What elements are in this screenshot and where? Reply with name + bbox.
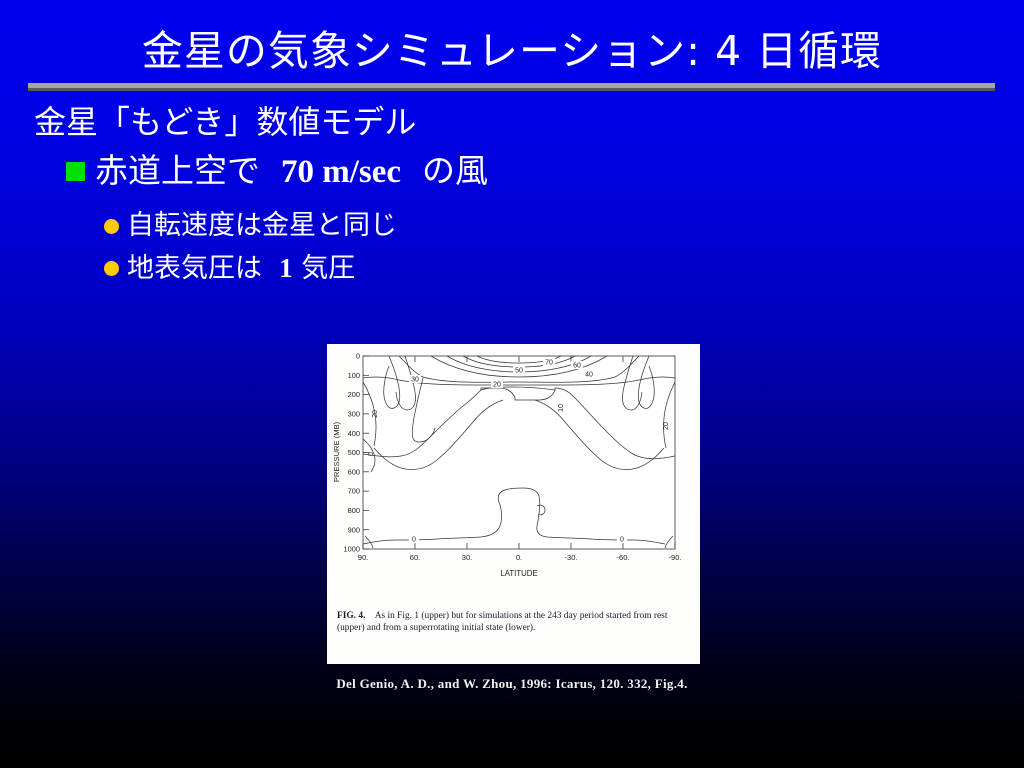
svg-text:30.: 30. <box>462 553 473 562</box>
svg-text:30: 30 <box>411 377 419 384</box>
citation-text: Del Genio, A. D., and W. Zhou, 1996: Ica… <box>0 676 1024 692</box>
green-square-bullet-icon <box>66 162 85 181</box>
figure-caption: FIG. 4. As in Fig. 1 (upper) but for sim… <box>337 610 690 634</box>
yellow-dot-bullet-icon <box>104 219 119 234</box>
subheading: 金星「もどき」数値モデル <box>34 101 416 143</box>
figure-caption-text: As in Fig. 1 (upper) but for simulations… <box>337 611 667 633</box>
svg-text:800: 800 <box>348 506 360 515</box>
svg-text:20: 20 <box>663 422 670 430</box>
bullet-wind-text-before: 赤道上空で <box>95 151 260 190</box>
svg-text:10: 10 <box>558 404 565 412</box>
bullet-wind-text-after: の風 <box>422 151 488 190</box>
bullet-pressure-value: 1 <box>279 253 293 283</box>
bullet-item-wind: 赤道上空で 70 m/sec の風 <box>66 152 488 191</box>
svg-text:50: 50 <box>515 368 523 375</box>
svg-text:0: 0 <box>356 352 360 361</box>
svg-text:-30.: -30. <box>564 553 577 562</box>
y-axis-title: PRESSURE (MB) <box>332 421 341 482</box>
bullet-pressure-text-before: 地表気圧は <box>127 253 262 284</box>
svg-text:60.: 60. <box>410 553 421 562</box>
svg-text:700: 700 <box>348 487 360 496</box>
svg-text:0: 0 <box>412 537 416 544</box>
title-divider <box>28 83 995 91</box>
svg-text:200: 200 <box>348 390 360 399</box>
bullet-item-rotation-label: 自転速度は金星と同じ <box>127 210 397 242</box>
svg-text:60: 60 <box>573 363 581 370</box>
svg-text:90.: 90. <box>358 553 369 562</box>
svg-text:40: 40 <box>585 372 593 379</box>
svg-text:600: 600 <box>348 467 360 476</box>
svg-text:20: 20 <box>493 382 501 389</box>
x-axis-title: LATITUDE <box>500 569 537 578</box>
svg-text:0: 0 <box>368 452 375 456</box>
contour-plot-svg: 0 100 200 300 400 500 600 700 800 900 10… <box>327 344 700 594</box>
svg-text:20: 20 <box>372 410 379 418</box>
svg-text:300: 300 <box>348 410 360 419</box>
bullet-item-rotation: 自転速度は金星と同じ <box>104 210 397 242</box>
bullet-item-pressure-label: 地表気圧は 1 気圧 <box>127 252 355 285</box>
svg-text:0.: 0. <box>516 553 522 562</box>
svg-text:-60.: -60. <box>616 553 629 562</box>
svg-text:100: 100 <box>348 371 360 380</box>
svg-text:400: 400 <box>348 429 360 438</box>
bullet-item-wind-label: 赤道上空で 70 m/sec の風 <box>95 152 488 191</box>
contour-plot: 0 100 200 300 400 500 600 700 800 900 10… <box>327 344 700 594</box>
svg-text:0: 0 <box>620 537 624 544</box>
svg-text:500: 500 <box>348 448 360 457</box>
svg-text:900: 900 <box>348 525 360 534</box>
bullet-item-pressure: 地表気圧は 1 気圧 <box>104 252 355 285</box>
yellow-dot-bullet-icon <box>104 261 119 276</box>
svg-text:70: 70 <box>545 360 553 367</box>
bullet-pressure-text-after: 気圧 <box>301 253 355 284</box>
bullet-wind-value: 70 m/sec <box>281 154 401 190</box>
y-axis-tick-labels: 0 100 200 300 400 500 600 700 800 900 10… <box>344 352 360 554</box>
x-axis-tick-labels: 90. 60. 30. 0. -30. -60. -90. <box>358 553 682 562</box>
figure-panel: 0 100 200 300 400 500 600 700 800 900 10… <box>327 344 700 664</box>
page-title: 金星の気象シミュレーション: 4 日循環 <box>0 26 1024 76</box>
svg-text:-90.: -90. <box>668 553 681 562</box>
figure-number: FIG. 4. <box>337 611 365 621</box>
